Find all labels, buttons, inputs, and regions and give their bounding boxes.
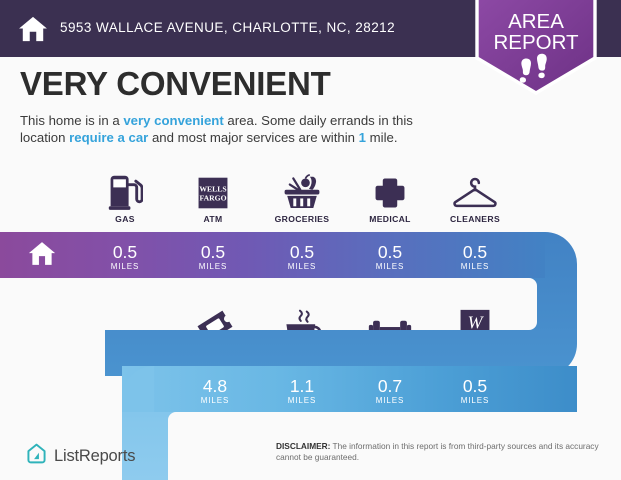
category-label: GROCERIES — [270, 214, 334, 224]
distance-gym: 0.7 MILES — [360, 377, 420, 405]
category-atm: WELLS FARGO ATM — [183, 166, 243, 224]
category-groceries: GROCERIES — [270, 166, 334, 224]
summary-accent-1: very convenient — [123, 113, 223, 128]
summary-part-4: mile. — [366, 130, 398, 145]
svg-text:FARGO: FARGO — [199, 194, 226, 203]
distance-movie-theater: 4.8 MILES — [185, 377, 245, 405]
distance-unit: MILES — [185, 396, 245, 405]
badge-line-2: REPORT — [493, 31, 579, 54]
summary-accent-2: require a car — [69, 130, 148, 145]
distance-medical: 0.5 MILES — [360, 243, 420, 271]
disclaimer: DISCLAIMER: The information in this repo… — [276, 441, 606, 463]
distance-unit: MILES — [183, 262, 243, 271]
distance-coffee: 1.1 MILES — [272, 377, 332, 405]
distance-unit: MILES — [445, 396, 505, 405]
distance-value: 0.7 — [360, 377, 420, 396]
area-report-badge: AREA REPORT — [472, 0, 600, 99]
category-label: ATM — [183, 214, 243, 224]
distance-value: 4.8 — [185, 377, 245, 396]
home-marker-icon — [28, 241, 56, 271]
summary-text: This home is in a very convenient area. … — [20, 112, 445, 146]
distance-unit: MILES — [272, 262, 332, 271]
wells-fargo-icon: WELLS FARGO — [183, 166, 243, 210]
summary-part-1: This home is in a — [20, 113, 123, 128]
summary-part-3: and most major services are within — [148, 130, 358, 145]
distance-unit: MILES — [445, 262, 505, 271]
distance-unit: MILES — [360, 396, 420, 405]
badge-line-1: AREA — [508, 10, 564, 33]
clothes-hanger-icon — [443, 166, 507, 210]
distance-value: 0.5 — [445, 243, 505, 262]
distance-value: 0.5 — [360, 243, 420, 262]
distance-unit: MILES — [360, 262, 420, 271]
distance-unit: MILES — [95, 262, 155, 271]
medical-cross-icon — [360, 166, 420, 210]
disclaimer-label: DISCLAIMER: — [276, 441, 330, 451]
listreports-wordmark: ListReports — [54, 447, 135, 466]
property-address: 5953 WALLACE AVENUE, CHARLOTTE, NC, 2821… — [60, 20, 395, 35]
svg-text:WELLS: WELLS — [199, 184, 226, 193]
category-gas: GAS — [95, 166, 155, 224]
category-label: GAS — [95, 214, 155, 224]
distance-atm: 0.5 MILES — [183, 243, 243, 271]
summary-accent-3: 1 — [359, 130, 366, 145]
distance-cleaners: 0.5 MILES — [445, 243, 505, 271]
distance-gas: 0.5 MILES — [95, 243, 155, 271]
page-title: VERY CONVENIENT — [20, 65, 331, 103]
distance-groceries: 0.5 MILES — [272, 243, 332, 271]
grocery-basket-icon — [270, 166, 334, 210]
category-label: CLEANERS — [443, 214, 507, 224]
home-icon — [18, 16, 48, 42]
gas-pump-icon — [95, 166, 155, 210]
listreports-house-tag-icon — [26, 443, 47, 469]
area-report-infographic: 5953 WALLACE AVENUE, CHARLOTTE, NC, 2821… — [0, 0, 621, 480]
distance-value: 1.1 — [272, 377, 332, 396]
category-medical: MEDICAL — [360, 166, 420, 224]
distance-value: 0.5 — [272, 243, 332, 262]
category-label: MEDICAL — [360, 214, 420, 224]
distance-unit: MILES — [272, 396, 332, 405]
distance-pharmacy: 0.5 MILES — [445, 377, 505, 405]
listreports-logo: ListReports — [26, 443, 135, 469]
category-cleaners: CLEANERS — [443, 166, 507, 224]
distance-value: 0.5 — [445, 377, 505, 396]
distance-value: 0.5 — [95, 243, 155, 262]
distance-value: 0.5 — [183, 243, 243, 262]
